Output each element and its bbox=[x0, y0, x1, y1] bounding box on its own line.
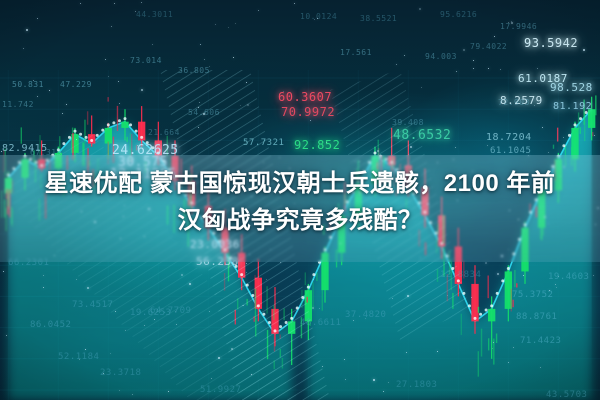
headline-line-2: 汉匈战争究竟多残酷？ bbox=[0, 202, 600, 239]
headline-line-1: 星速优配 蒙古国惊现汉朝士兵遗骸，2100 年前 bbox=[0, 165, 600, 202]
banner-image: 93.594261.018798.5288.257981.19260.36077… bbox=[0, 0, 600, 400]
headline: 星速优配 蒙古国惊现汉朝士兵遗骸，2100 年前 汉匈战争究竟多残酷？ bbox=[0, 165, 600, 239]
